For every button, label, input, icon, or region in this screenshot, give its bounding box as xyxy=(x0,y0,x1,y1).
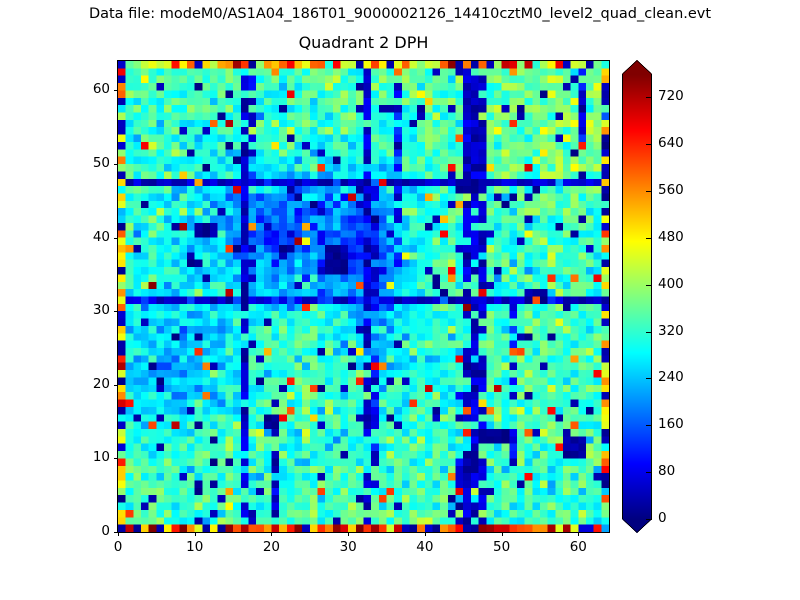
y-tick-label: 10 xyxy=(64,449,110,465)
x-tick-label: 30 xyxy=(328,539,368,555)
x-tick-label: 50 xyxy=(482,539,522,555)
y-tick-label: 50 xyxy=(64,155,110,171)
y-tick-label: 30 xyxy=(64,302,110,318)
y-tick-mark xyxy=(114,90,118,91)
x-tick-label: 40 xyxy=(405,539,445,555)
y-tick-mark xyxy=(114,238,118,239)
heatmap-axes xyxy=(117,60,610,533)
y-tick-mark xyxy=(114,311,118,312)
colorbar-tick-label: 80 xyxy=(658,463,675,479)
colorbar-tick-mark xyxy=(646,332,652,333)
colorbar-tick-mark xyxy=(646,519,652,520)
page-title: Quadrant 2 DPH xyxy=(117,33,610,52)
colorbar-tick-mark xyxy=(646,425,652,426)
x-tick-label: 0 xyxy=(98,539,138,555)
x-tick-mark xyxy=(118,532,119,536)
colorbar-tick-mark xyxy=(646,472,652,473)
colorbar-tick-mark xyxy=(646,285,652,286)
x-tick-mark xyxy=(502,532,503,536)
heatmap-image xyxy=(118,61,609,532)
colorbar-tick-label: 720 xyxy=(658,88,684,104)
x-tick-label: 10 xyxy=(175,539,215,555)
x-tick-label: 20 xyxy=(251,539,291,555)
y-tick-mark xyxy=(114,385,118,386)
x-tick-mark xyxy=(271,532,272,536)
y-tick-mark xyxy=(114,458,118,459)
colorbar-tick-label: 640 xyxy=(658,135,684,151)
colorbar-tick-label: 480 xyxy=(658,229,684,245)
colorbar-tick-label: 0 xyxy=(658,510,667,526)
x-tick-mark xyxy=(348,532,349,536)
colorbar: 080160240320400480560640720 xyxy=(622,60,742,533)
colorbar-tick-mark xyxy=(646,191,652,192)
y-tick-label: 40 xyxy=(64,229,110,245)
colorbar-tick-mark xyxy=(646,238,652,239)
x-tick-mark xyxy=(578,532,579,536)
x-tick-mark xyxy=(195,532,196,536)
x-tick-mark xyxy=(425,532,426,536)
colorbar-tick-mark xyxy=(646,144,652,145)
colorbar-tick-label: 320 xyxy=(658,323,684,339)
y-tick-label: 20 xyxy=(64,376,110,392)
colorbar-tick-label: 560 xyxy=(658,182,684,198)
colorbar-gradient xyxy=(622,60,652,533)
colorbar-tick-label: 160 xyxy=(658,416,684,432)
y-tick-mark xyxy=(114,532,118,533)
colorbar-tick-mark xyxy=(646,378,652,379)
y-tick-mark xyxy=(114,164,118,165)
data-file-suptitle: Data file: modeM0/AS1A04_186T01_90000021… xyxy=(0,6,800,22)
x-tick-label: 60 xyxy=(558,539,598,555)
colorbar-tick-label: 400 xyxy=(658,276,684,292)
y-tick-label: 0 xyxy=(64,523,110,539)
y-tick-label: 60 xyxy=(64,81,110,97)
colorbar-tick-label: 240 xyxy=(658,369,684,385)
colorbar-tick-mark xyxy=(646,97,652,98)
